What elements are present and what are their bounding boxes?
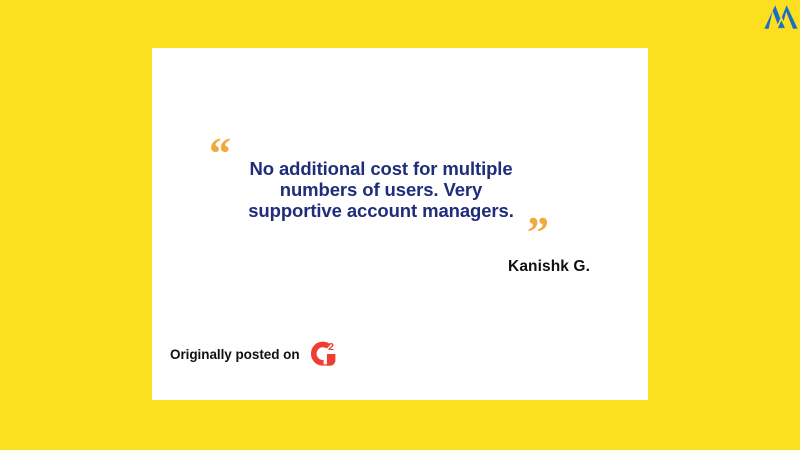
testimonial-slide: “ No additional cost for multiple number…: [0, 0, 800, 450]
quote-author: Kanishk G.: [302, 258, 590, 276]
mountain-a-logo: [764, 2, 798, 32]
posted-label: Originally posted on: [170, 347, 300, 362]
svg-text:2: 2: [328, 341, 334, 353]
quote-block: “ No additional cost for multiple number…: [152, 48, 648, 258]
testimonial-card: “ No additional cost for multiple number…: [152, 48, 648, 400]
open-quote-icon: “: [209, 132, 231, 176]
close-quote-icon: ”: [527, 211, 549, 255]
quote-text: No additional cost for multiple numbers …: [236, 158, 526, 221]
g2-icon[interactable]: 2: [309, 340, 337, 368]
posted-source-row: Originally posted on 2: [170, 340, 337, 368]
